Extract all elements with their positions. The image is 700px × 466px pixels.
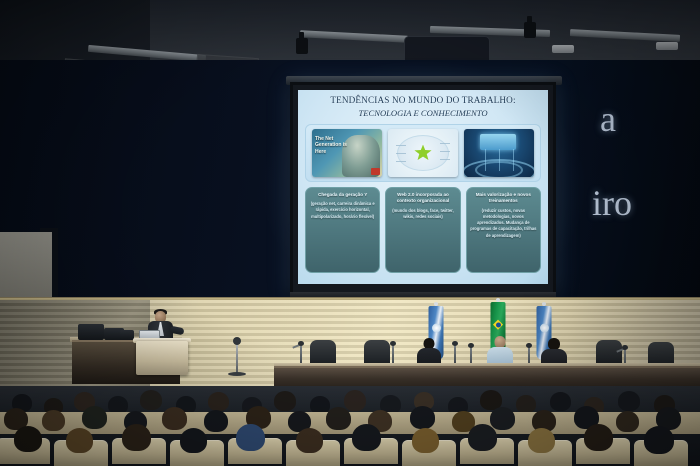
audience-head [274,391,296,411]
flag-finial [434,302,438,306]
net-generation-magazine-cover-image: The Net Generation is Here [312,129,382,177]
magazine-cover-caption: The Net Generation is Here [315,136,351,156]
ceiling-downlight [552,45,574,53]
audience-head [412,428,439,453]
presentation-slide: TENDÊNCIAS NO MUNDO DO TRABALHO: TECNOLO… [298,90,548,284]
audience-head [208,392,229,411]
network-diagram-image [388,129,458,177]
flag-finial [496,298,500,302]
audience-head [296,428,323,453]
audience-head [344,390,366,411]
wall-letter-iro: iro [592,182,632,224]
audience-head [122,424,151,451]
audience-head [352,424,381,451]
slide-textbox-3-body: (reduzir custos, novas metodologias, nov… [470,208,537,239]
audience-head [618,391,640,411]
ceiling-light-slot [300,30,408,43]
audience-head [162,407,187,430]
projection-screen: TENDÊNCIAS NO MUNDO DO TRABALHO: TECNOLO… [290,82,556,296]
audience-head [82,406,107,429]
laptop-closed [120,330,134,340]
wall-letter-a: a [600,98,616,140]
diagram-label-line [440,143,450,144]
audience-head [42,410,65,431]
diagram-label-line [396,153,406,154]
slide-textbox-row: Chegada da geração Y (geração net, carre… [305,187,541,273]
audience-head [204,410,228,432]
spotlight-icon [524,22,536,38]
audience-head [550,392,571,411]
digital-highway-image [464,129,534,177]
slide-textbox-1-body: (geração net, carreira dinâmica e rápida… [309,201,376,219]
glowing-screen-element [480,134,516,150]
audience-area [0,386,700,466]
slide-textbox-1: Chegada da geração Y (geração net, carre… [305,187,380,273]
red-tab-decoration [371,168,380,175]
diagram-label-line [396,145,406,146]
av-equipment [78,324,104,340]
slide-subtitle: TECNOLOGIA E CONHECIMENTO [358,108,487,119]
auditorium-photo: I E a iro TENDÊNCIAS NO MUNDO DO TRABALH… [0,0,700,466]
audience-head [140,390,162,410]
diagram-label-line [440,151,450,152]
audience-head [14,426,42,452]
audience-head [490,407,515,430]
audience-head [326,407,351,430]
diagram-label-line [440,159,450,160]
floor-microphone-base [228,372,246,376]
audience-head [584,424,613,451]
ceiling-light-slot [570,29,680,42]
audience-head [468,424,497,451]
road-curve-inner [475,161,523,177]
audience-head [66,428,93,453]
ceiling-downlight [656,42,678,50]
slide-image-row: The Net Generation is Here [305,124,541,182]
audience-head [528,428,555,453]
slide-textbox-2: Web 2.0 incorporada ao contexto organiza… [385,187,460,273]
slide-textbox-2-body: (mundo dos blogs, face, twitter, wikis, … [389,208,456,220]
lectern [136,341,188,375]
slide-textbox-3: Mais valorização e novos treinamentos (r… [466,187,541,273]
audience-head [516,395,536,413]
audience-head [616,411,639,432]
audience-head [236,424,265,451]
flag-finial [542,302,546,306]
floor-microphone [236,342,238,374]
slide-textbox-2-heading: Web 2.0 incorporada ao contexto organiza… [389,192,456,205]
audience-head [180,428,207,453]
slide-title: TENDÊNCIAS NO MUNDO DO TRABALHO: [330,95,515,107]
audience-head [644,426,674,454]
slide-textbox-1-heading: Chegada da geração Y [318,192,367,199]
diagram-label-line [396,161,406,162]
audience-head [410,406,435,429]
slide-textbox-3-heading: Mais valorização e novos treinamentos [470,192,537,205]
spotlight-icon [296,38,308,54]
